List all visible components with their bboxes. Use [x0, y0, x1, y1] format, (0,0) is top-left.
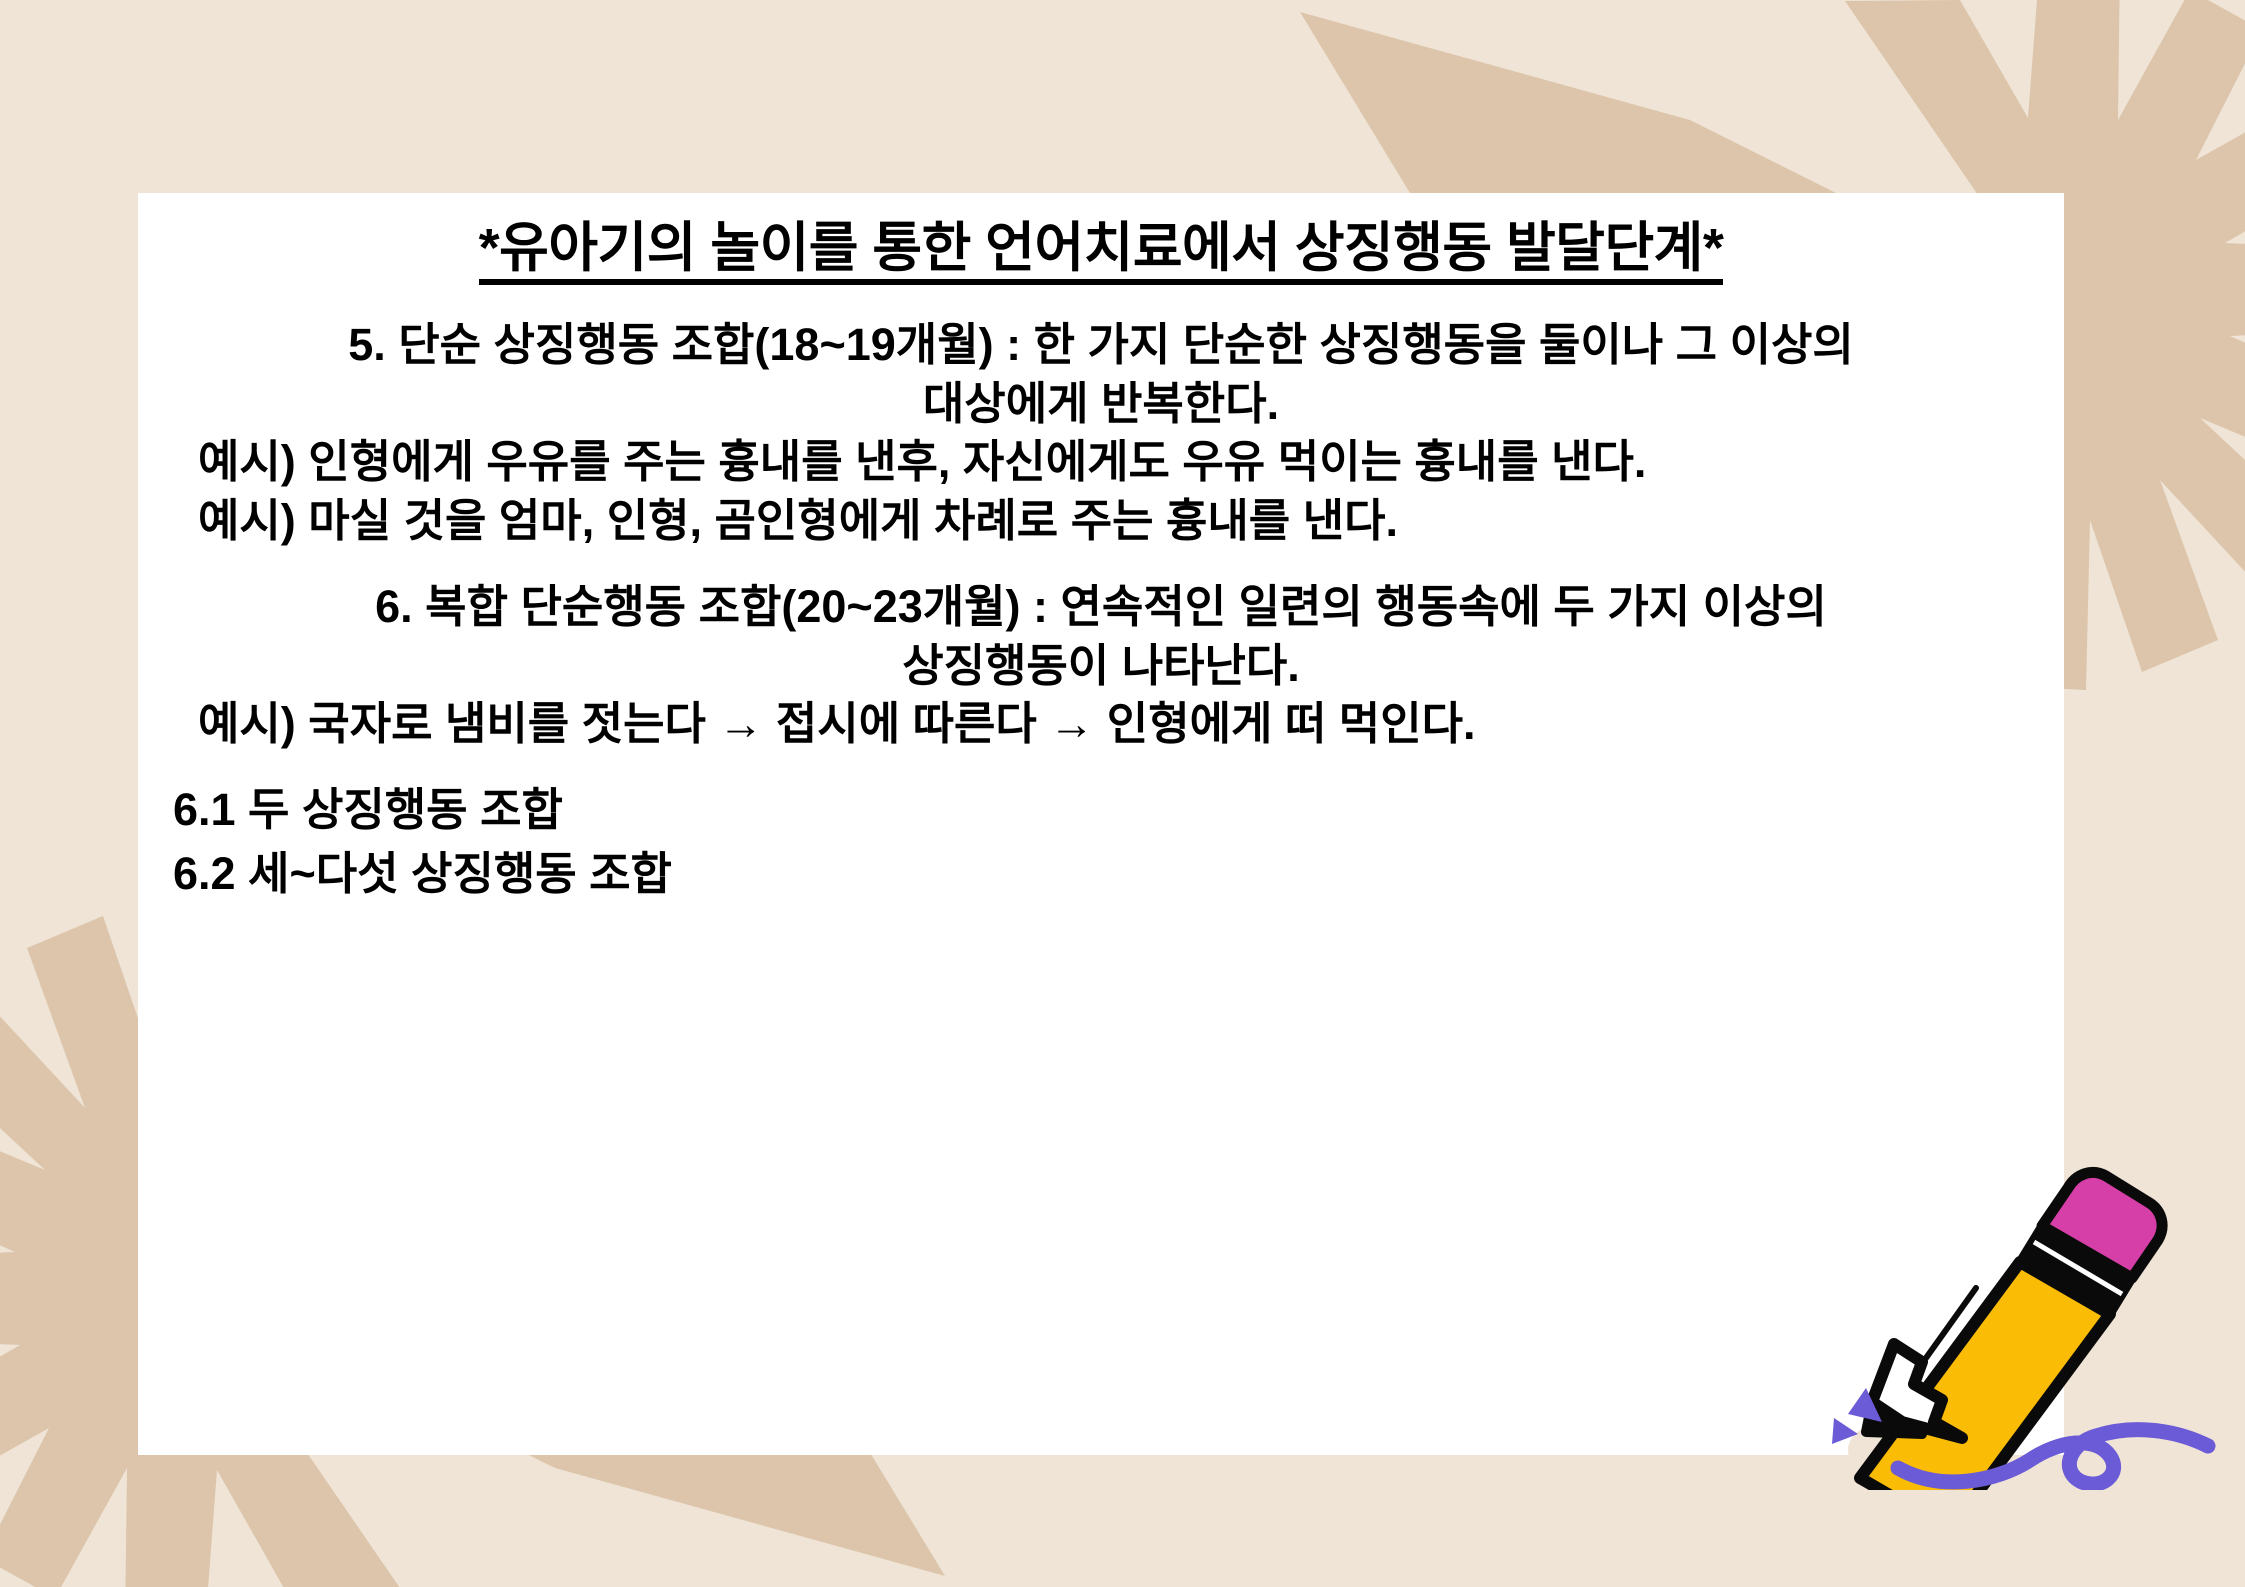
section-6-heading-line-2: 상징행동이 나타난다. [138, 637, 2064, 696]
section-5-heading-line-1: 5. 단순 상징행동 조합(18~19개월) : 한 가지 단순한 상징행동을 … [138, 316, 2064, 375]
slide-canvas: *유아기의 놀이를 통한 언어치료에서 상징행동 발달단계* 5. 단순 상징행… [0, 0, 2245, 1587]
section-6-sub-items: 6.1 두 상징행동 조합 6.2 세~다섯 상징행동 조합 [138, 778, 2064, 906]
section-6-sub-item-2: 6.2 세~다섯 상징행동 조합 [138, 842, 2064, 906]
section-6-heading-line-1: 6. 복합 단순행동 조합(20~23개월) : 연속적인 일련의 행동속에 두… [138, 578, 2064, 637]
section-5: 5. 단순 상징행동 조합(18~19개월) : 한 가지 단순한 상징행동을 … [138, 316, 2064, 550]
section-6-sub-item-1: 6.1 두 상징행동 조합 [138, 778, 2064, 842]
section-5-example-1: 예시) 인형에게 우유를 주는 흉내를 낸후, 자신에게도 우유 먹이는 흉내를… [138, 433, 2064, 492]
section-6: 6. 복합 단순행동 조합(20~23개월) : 연속적인 일련의 행동속에 두… [138, 578, 2064, 754]
section-6-example-1: 예시) 국자로 냄비를 젓는다 → 접시에 따른다 → 인형에게 떠 먹인다. [138, 695, 2064, 754]
section-5-example-2: 예시) 마실 것을 엄마, 인형, 곰인형에게 차례로 주는 흉내를 낸다. [138, 492, 2064, 551]
page-title-text: *유아기의 놀이를 통한 언어치료에서 상징행동 발달단계* [479, 220, 1724, 285]
section-5-heading-line-2: 대상에게 반복한다. [138, 375, 2064, 434]
page-title: *유아기의 놀이를 통한 언어치료에서 상징행동 발달단계* [138, 217, 2064, 285]
content-card: *유아기의 놀이를 통한 언어치료에서 상징행동 발달단계* 5. 단순 상징행… [138, 193, 2064, 1455]
